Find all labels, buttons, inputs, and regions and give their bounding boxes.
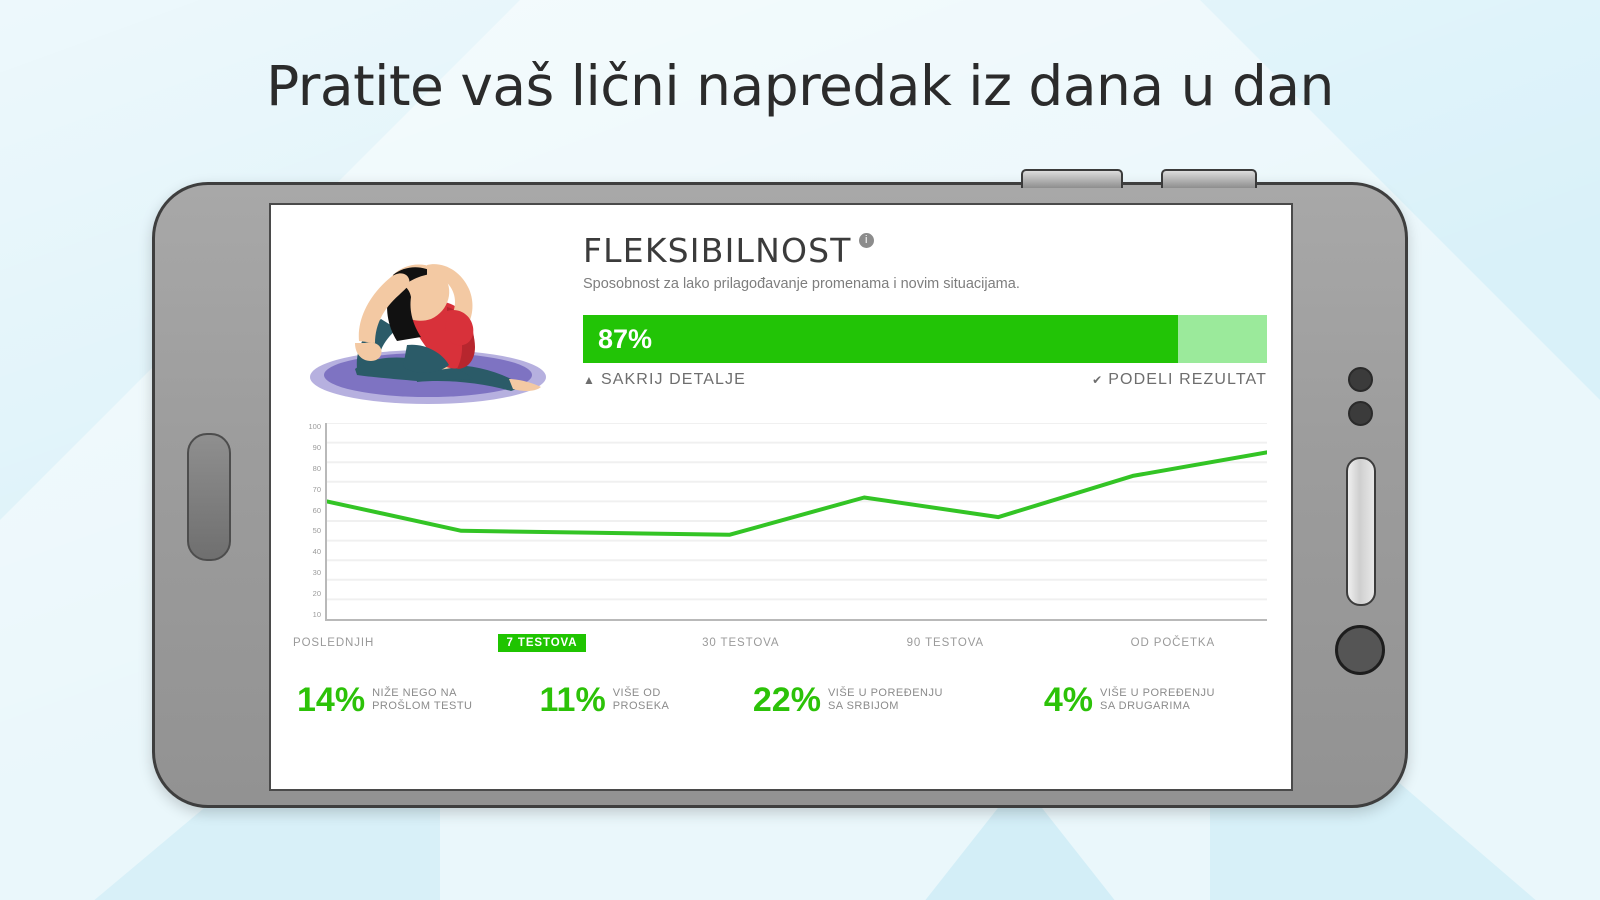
chart-range-tab[interactable]: 7 TESTOVA [498, 634, 587, 652]
caret-up-icon: ▲ [583, 373, 596, 387]
hide-details-label: SAKRIJ DETALJE [601, 371, 746, 388]
phone-speaker-left [187, 433, 231, 561]
chart-y-tick: 40 [313, 548, 321, 556]
chart-y-tick: 70 [313, 486, 321, 494]
camera-icon [1348, 367, 1373, 392]
share-result-button[interactable]: ✔PODELI REZULTAT [1092, 371, 1267, 389]
power-button[interactable] [1161, 169, 1257, 188]
hide-details-button[interactable]: ▲SAKRIJ DETALJE [583, 371, 746, 389]
stat-item: 22%VIŠE U POREĐENJUSA SRBIJOM [753, 683, 943, 717]
stat-value: 4% [1044, 683, 1093, 717]
home-button[interactable] [1335, 625, 1385, 675]
page-headline: Pratite vaš lični napredak iz dana u dan [0, 54, 1600, 118]
progress-bar-fill [583, 315, 1178, 363]
app-content: FLEKSIBILNOSTi Sposobnost za lako prilag… [271, 205, 1291, 789]
chart-plot-area [325, 423, 1267, 621]
action-row: ▲SAKRIJ DETALJE ✔PODELI REZULTAT [583, 371, 1267, 393]
stat-label-line2: PROŠLOM TESTU [372, 700, 472, 713]
stat-item: 14%NIŽE NEGO NAPROŠLOM TESTU [297, 683, 473, 717]
check-icon: ✔ [1092, 373, 1103, 387]
info-icon[interactable]: i [859, 233, 874, 248]
stat-label-line2: SA SRBIJOM [828, 700, 943, 713]
stat-label-line2: PROSEKA [613, 700, 670, 713]
chart-range-tabs: POSLEDNJIH7 TESTOVA30 TESTOVA90 TESTOVAO… [293, 637, 1267, 663]
stat-label-line1: VIŠE OD [613, 687, 670, 700]
phone-speaker-right [1346, 457, 1376, 606]
yoga-pose-illustration [297, 219, 559, 409]
chart-y-tick: 100 [308, 423, 321, 431]
progress-chart: 100908070605040302010 [293, 423, 1267, 635]
stat-label-line1: NIŽE NEGO NA [372, 687, 472, 700]
chart-y-axis: 100908070605040302010 [293, 423, 321, 619]
chart-gridlines [327, 423, 1267, 599]
volume-rocker-button[interactable] [1021, 169, 1123, 188]
phone-screen: FLEKSIBILNOSTi Sposobnost za lako prilag… [269, 203, 1293, 791]
stats-row: 14%NIŽE NEGO NAPROŠLOM TESTU11%VIŠE ODPR… [297, 683, 1267, 741]
page-root: Pratite vaš lični napredak iz dana u dan [0, 0, 1600, 900]
progress-value-label: 87% [598, 315, 652, 363]
chart-y-tick: 90 [313, 444, 321, 452]
metric-header: FLEKSIBILNOSTi Sposobnost za lako prilag… [583, 231, 1267, 293]
chart-y-tick: 30 [313, 569, 321, 577]
phone-device: FLEKSIBILNOSTi Sposobnost za lako prilag… [152, 182, 1408, 808]
stat-label: VIŠE U POREĐENJUSA DRUGARIMA [1100, 687, 1215, 713]
stat-item: 4%VIŠE U POREĐENJUSA DRUGARIMA [1044, 683, 1215, 717]
page-title: FLEKSIBILNOST [583, 231, 852, 270]
stat-label: VIŠE ODPROSEKA [613, 687, 670, 713]
stat-label-line1: VIŠE U POREĐENJU [1100, 687, 1215, 700]
stat-item: 11%VIŠE ODPROSEKA [540, 683, 670, 717]
chart-y-tick: 20 [313, 590, 321, 598]
chart-line-series [327, 452, 1267, 534]
chart-svg [327, 423, 1267, 619]
stat-label-line2: SA DRUGARIMA [1100, 700, 1215, 713]
sensor-icon [1348, 401, 1373, 426]
chart-y-tick: 60 [313, 507, 321, 515]
stat-value: 22% [753, 683, 821, 717]
chart-range-tab[interactable]: POSLEDNJIH [293, 637, 374, 649]
chart-y-tick: 10 [313, 611, 321, 619]
stat-value: 11% [540, 683, 606, 717]
chart-y-tick: 50 [313, 527, 321, 535]
progress-bar: 87% [583, 315, 1267, 363]
chart-range-tab[interactable]: 30 TESTOVA [702, 637, 779, 649]
stat-value: 14% [297, 683, 365, 717]
stat-label: VIŠE U POREĐENJUSA SRBIJOM [828, 687, 943, 713]
chart-range-tab[interactable]: 90 TESTOVA [907, 637, 984, 649]
metric-description: Sposobnost za lako prilagođavanje promen… [583, 276, 1043, 293]
share-result-label: PODELI REZULTAT [1108, 371, 1267, 388]
stat-label-line1: VIŠE U POREĐENJU [828, 687, 943, 700]
stat-label: NIŽE NEGO NAPROŠLOM TESTU [372, 687, 472, 713]
chart-range-tab[interactable]: OD POČETKA [1131, 637, 1215, 649]
chart-y-tick: 80 [313, 465, 321, 473]
